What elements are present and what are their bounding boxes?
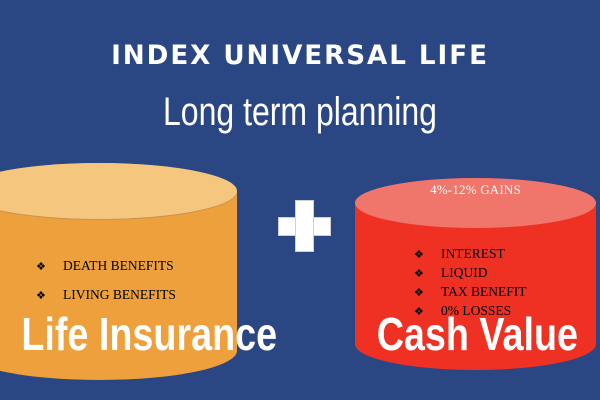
cash-value-caption: Cash Value xyxy=(377,311,575,357)
diamond-bullet-icon: ❖ xyxy=(414,269,441,280)
list-item: ❖ LIVING BENEFITS xyxy=(36,287,176,303)
infographic-canvas: INDEX UNIVERSAL LIFE Long term planning … xyxy=(0,0,600,400)
plus-center xyxy=(296,218,313,234)
list-item-label: DEATH BENEFITS xyxy=(63,258,174,274)
plus-sign-icon xyxy=(278,200,331,252)
life-insurance-caption: Life Insurance xyxy=(21,311,215,357)
diamond-bullet-icon: ❖ xyxy=(36,262,63,273)
list-item: ❖ INTEREST xyxy=(414,246,527,262)
gains-label: 4%-12% GAINS xyxy=(355,182,596,198)
diamond-bullet-icon: ❖ xyxy=(414,288,441,299)
list-item: ❖ DEATH BENEFITS xyxy=(36,258,176,274)
list-item: ❖ TAX BENEFIT xyxy=(414,284,527,300)
page-subtitle: Long term planning xyxy=(60,88,540,136)
list-item-label: LIVING BENEFITS xyxy=(63,287,176,303)
list-item: ❖ LIQUID xyxy=(414,265,527,281)
diamond-bullet-icon: ❖ xyxy=(36,291,63,302)
list-item-label: TAX BENEFIT xyxy=(441,284,527,300)
page-title: INDEX UNIVERSAL LIFE xyxy=(9,40,591,72)
diamond-bullet-icon: ❖ xyxy=(414,250,441,261)
list-item-label: LIQUID xyxy=(441,265,488,281)
list-item-label: INTEREST xyxy=(441,246,505,262)
